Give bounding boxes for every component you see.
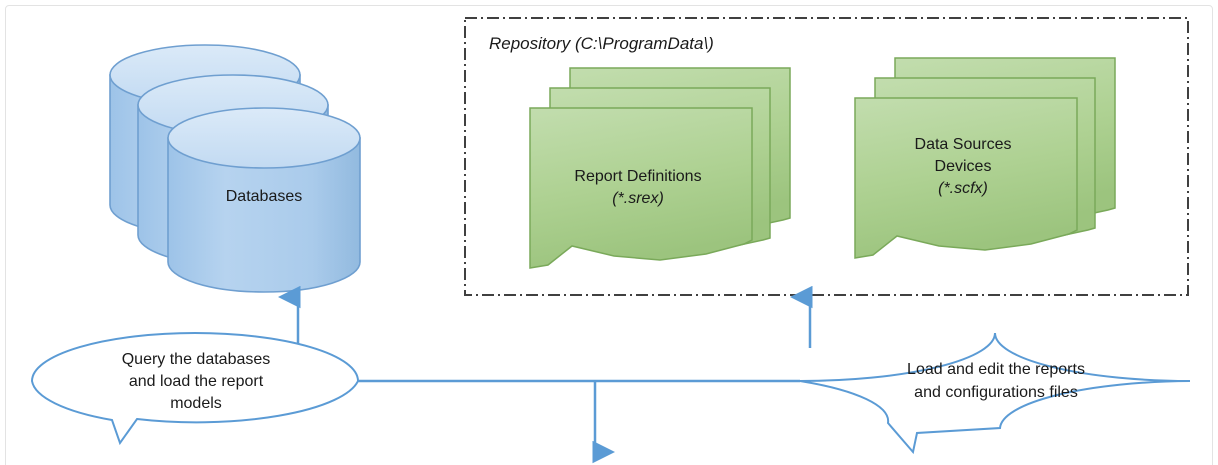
document-stack-data-sources-devices: Data Sources Devices (*.scfx) [855,58,1115,258]
databases-group: Databases [110,45,360,292]
document-stack-report-definitions: Report Definitions (*.srex) [530,68,790,268]
callout-load-edit-reports[interactable]: Load and edit the reports and configurat… [800,333,1190,452]
callout-line-2: and load the report [129,373,264,390]
repository-title: Repository (C:\ProgramData\) [489,34,714,53]
document-sheet-front [855,98,1077,258]
databases-label: Databases [226,188,303,205]
data-sources-label-line-1: Data Sources [915,136,1012,153]
architecture-diagram: Databases Repository (C:\ProgramData\) R… [0,0,1218,465]
report-definitions-extension-label: (*.srex) [612,190,664,207]
report-definitions-label-line-1: Report Definitions [574,168,701,185]
connectors-group [298,297,810,452]
callout-line-3: models [170,395,222,412]
callout-line-2: and configurations files [914,384,1078,401]
callout-line-1: Query the databases [122,351,271,368]
document-sheet-front [530,108,752,268]
callout-query-databases[interactable]: Query the databases and load the report … [32,333,358,443]
callout-line-1: Load and edit the reports [907,361,1085,378]
data-sources-label-line-2: Devices [935,158,992,175]
repository-group: Repository (C:\ProgramData\) Report Defi… [465,18,1188,295]
diagram-canvas: Databases Repository (C:\ProgramData\) R… [0,0,1218,465]
data-sources-extension-label: (*.scfx) [938,180,988,197]
